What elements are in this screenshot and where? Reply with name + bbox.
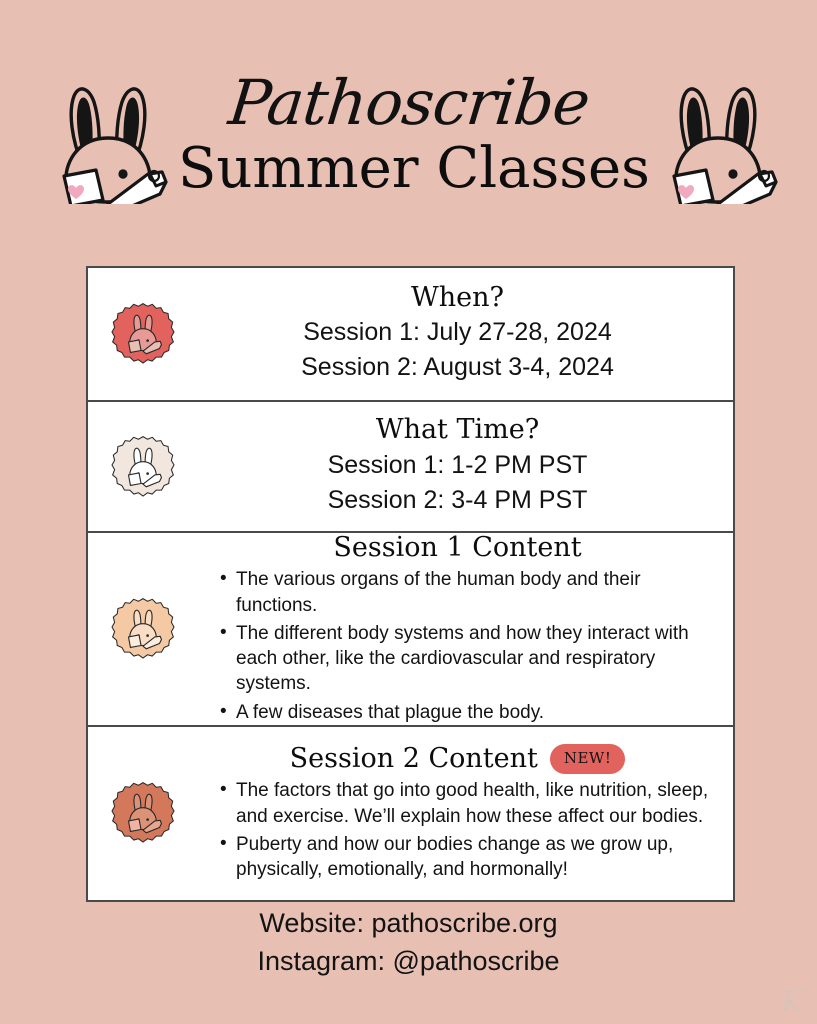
list-item: The various organs of the human body and… <box>220 567 717 618</box>
poster-footer: Website: pathoscribe.org Instagram: @pat… <box>0 905 817 981</box>
card-heading: Session 2 Content <box>290 744 538 774</box>
card-when: When? Session 1: July 27-28, 2024 Sessio… <box>88 268 733 400</box>
card-session-2-content: Session 2 Content NEW! The factors that … <box>88 725 733 900</box>
info-line: Session 1: July 27-28, 2024 <box>198 315 717 350</box>
title-block: Pathoscribe Summer Classes <box>178 72 640 201</box>
card-heading: When? <box>198 283 717 313</box>
poster-subtitle: Summer Classes <box>178 138 640 201</box>
list-item: A few diseases that plague the body. <box>220 700 717 725</box>
info-card-stack: When? Session 1: July 27-28, 2024 Sessio… <box>86 266 735 902</box>
poster-header: Pathoscribe Summer Classes <box>0 0 817 250</box>
info-line: Session 2: August 3-4, 2024 <box>198 350 717 385</box>
watermark: K <box>781 988 803 1018</box>
card-heading-row: Session 2 Content NEW! <box>198 744 717 774</box>
badge-column <box>88 301 198 367</box>
list-item: Puberty and how our bodies change as we … <box>220 832 717 883</box>
info-line: Session 1: 1-2 PM PST <box>198 448 717 483</box>
poster-canvas: Pathoscribe Summer Classes <box>0 0 817 1024</box>
info-line: Session 2: 3-4 PM PST <box>198 483 717 518</box>
card-body: When? Session 1: July 27-28, 2024 Sessio… <box>198 283 733 385</box>
bunny-badge-icon <box>110 780 176 846</box>
bullet-list: The various organs of the human body and… <box>198 567 717 725</box>
card-session-1-content: Session 1 Content The various organs of … <box>88 531 733 725</box>
bunny-badge-icon <box>110 301 176 367</box>
bullet-list: The factors that go into good health, li… <box>198 778 717 882</box>
card-body: What Time? Session 1: 1-2 PM PST Session… <box>198 415 733 517</box>
badge-column <box>88 434 198 500</box>
card-body: Session 2 Content NEW! The factors that … <box>198 744 733 882</box>
instagram-line: Instagram: @pathoscribe <box>0 943 817 981</box>
bunny-logo-right <box>652 78 784 204</box>
card-heading: Session 1 Content <box>198 533 717 563</box>
list-item: The different body systems and how they … <box>220 621 717 697</box>
badge-column <box>88 596 198 662</box>
card-what-time: What Time? Session 1: 1-2 PM PST Session… <box>88 400 733 531</box>
bunny-badge-icon <box>110 434 176 500</box>
bunny-badge-icon <box>110 596 176 662</box>
card-body: Session 1 Content The various organs of … <box>198 533 733 725</box>
website-line: Website: pathoscribe.org <box>0 905 817 943</box>
card-heading: What Time? <box>198 415 717 445</box>
bunny-logo-left <box>42 78 174 204</box>
new-badge: NEW! <box>550 744 626 774</box>
brand-title: Pathoscribe <box>175 72 644 134</box>
list-item: The factors that go into good health, li… <box>220 778 717 829</box>
badge-column <box>88 780 198 846</box>
